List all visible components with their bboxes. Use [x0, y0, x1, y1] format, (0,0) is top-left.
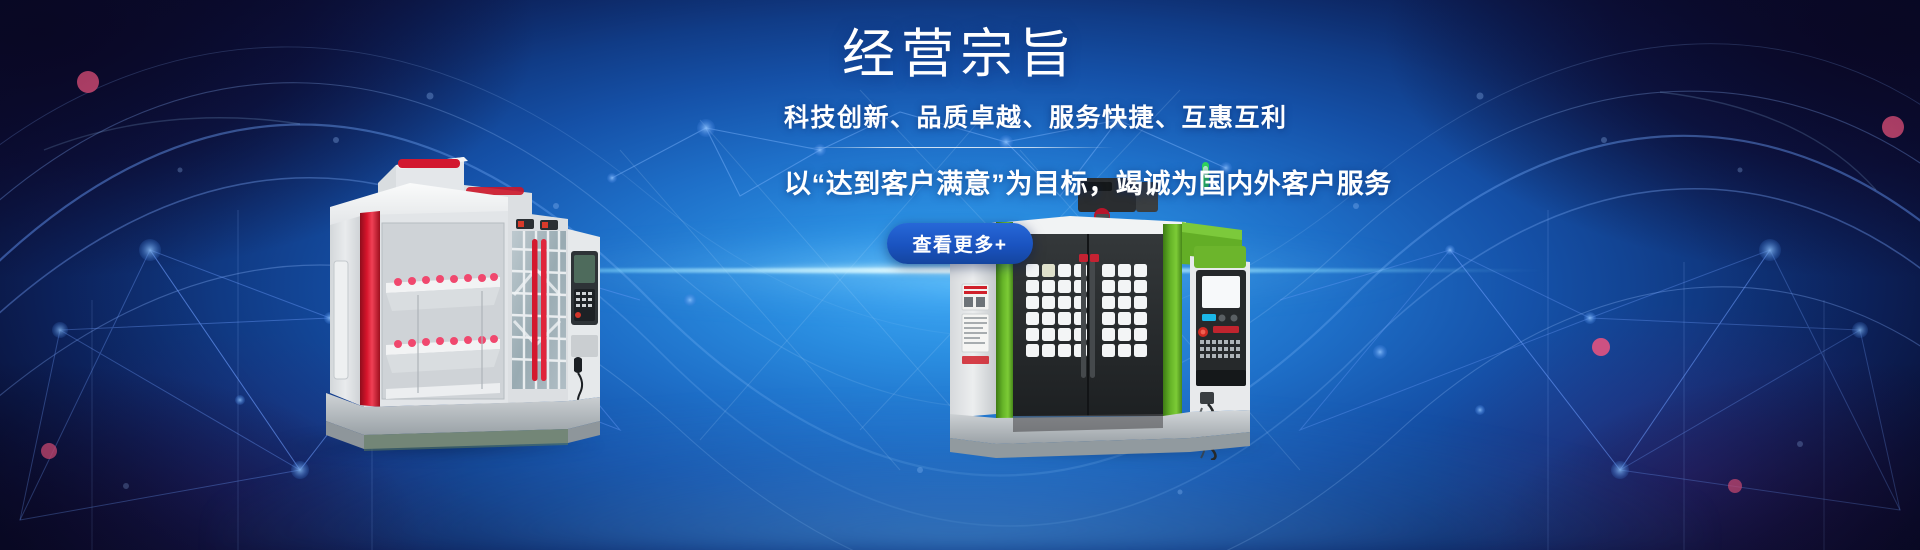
promo-banner: 经营宗旨 科技创新、品质卓越、服务快捷、互惠互利 以“达到客户满意”为目标，竭诚… — [0, 0, 1920, 550]
banner-subtitle: 科技创新、品质卓越、服务快捷、互惠互利 — [784, 98, 1136, 134]
view-more-button[interactable]: 查看更多+ — [887, 223, 1033, 264]
cnc-machining-center-left — [268, 145, 600, 455]
text-block: 经营宗旨 科技创新、品质卓越、服务快捷、互惠互利 以“达到客户满意”为目标，竭诚… — [784, 26, 1136, 264]
title-divider — [807, 147, 1113, 148]
banner-title: 经营宗旨 — [784, 26, 1136, 84]
cta-wrapper: 查看更多+ — [784, 223, 1136, 264]
banner-tagline: 以“达到客户满意”为目标，竭诚为国内外客户服务 — [784, 162, 1136, 201]
